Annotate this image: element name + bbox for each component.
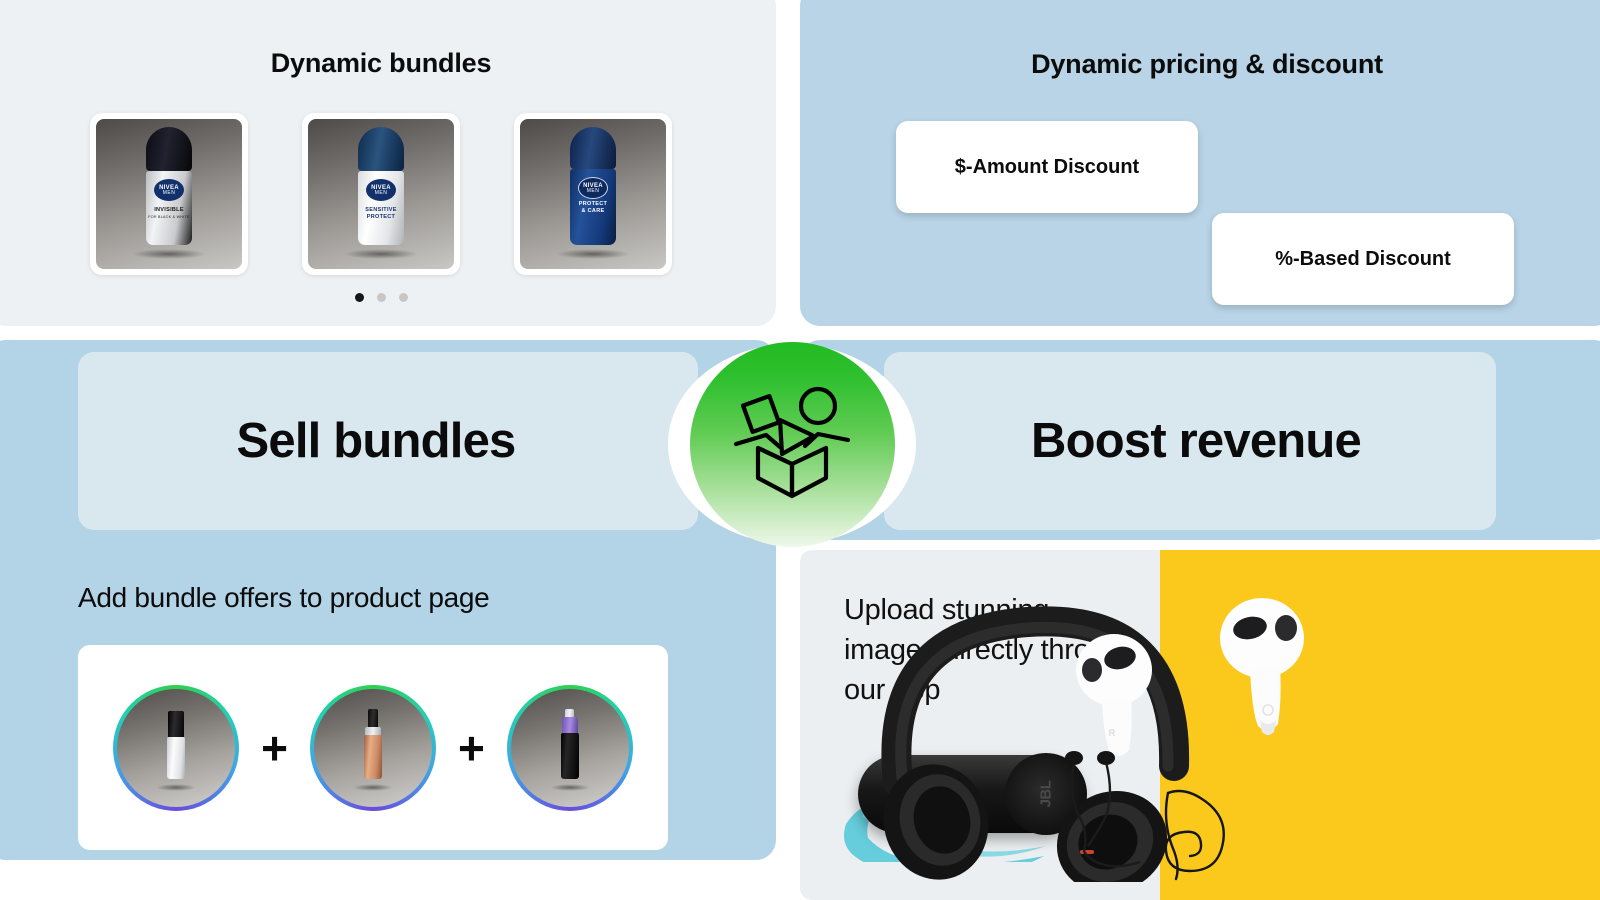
- bundle-product-shadow: [353, 784, 393, 791]
- center-icon-halo: [668, 344, 916, 544]
- airpod-earbud-left-icon: [1212, 592, 1322, 742]
- bundle-product-shadow: [550, 784, 590, 791]
- carousel-dot-1[interactable]: [355, 293, 364, 302]
- product-shadow: [556, 249, 630, 259]
- promo-graphic: Dynamic bundles NIVEAMEN INVISIBLE FOR B…: [0, 0, 1600, 900]
- product-line: MEN: [587, 189, 600, 194]
- open-box-with-shapes-icon: [722, 374, 862, 514]
- plus-separator: +: [458, 725, 485, 771]
- product-carousel[interactable]: NIVEAMEN INVISIBLE FOR BLACK & WHITE: [0, 113, 776, 275]
- product-sub: FOR BLACK & WHITE: [148, 215, 189, 219]
- carousel-dot-3[interactable]: [399, 293, 408, 302]
- add-bundle-offers-title: Add bundle offers to product page: [78, 582, 489, 614]
- product-card[interactable]: NIVEAMEN PROTECT & CARE: [514, 113, 672, 275]
- bundle-product-image: [511, 689, 629, 807]
- product-shadow: [344, 249, 418, 259]
- bundle-offer-preview-card: + +: [78, 645, 668, 850]
- bundle-product-shadow: [156, 784, 196, 791]
- product-card[interactable]: NIVEAMEN INVISIBLE FOR BLACK & WHITE: [90, 113, 248, 275]
- product-variant: PROTECT: [579, 201, 607, 207]
- center-icon-circle: [690, 342, 895, 547]
- bundle-product-ring[interactable]: [113, 685, 239, 811]
- boost-revenue-label: Boost revenue: [884, 413, 1496, 469]
- product-image: NIVEAMEN SENSITIVE PROTECT: [308, 119, 454, 269]
- upload-images-panel: Upload stunning images directly through …: [800, 550, 1600, 900]
- product-line: MEN: [375, 191, 388, 196]
- product-card[interactable]: NIVEAMEN SENSITIVE PROTECT: [302, 113, 460, 275]
- dynamic-pricing-panel: Dynamic pricing & discount $-Amount Disc…: [800, 0, 1600, 326]
- product-image: NIVEAMEN INVISIBLE FOR BLACK & WHITE: [96, 119, 242, 269]
- coiled-cord-icon: [1162, 775, 1312, 895]
- dynamic-bundles-panel: Dynamic bundles NIVEAMEN INVISIBLE FOR B…: [0, 0, 776, 326]
- product-variant: SENSITIVE: [365, 207, 396, 213]
- product-line: MEN: [163, 191, 176, 196]
- wired-earphones-icon: [1048, 746, 1168, 896]
- dynamic-bundles-title: Dynamic bundles: [0, 48, 776, 79]
- product-sub: & CARE: [582, 208, 605, 214]
- plus-separator: +: [261, 725, 288, 771]
- percent-discount-chip[interactable]: %-Based Discount: [1212, 213, 1514, 305]
- product-variant: INVISIBLE: [154, 207, 184, 213]
- product-image: NIVEAMEN PROTECT & CARE: [520, 119, 666, 269]
- amount-discount-chip[interactable]: $-Amount Discount: [896, 121, 1198, 213]
- bundle-product-ring[interactable]: [507, 685, 633, 811]
- svg-text:R: R: [1109, 728, 1116, 738]
- sell-bundles-label: Sell bundles: [78, 413, 698, 469]
- product-shadow: [132, 249, 206, 259]
- bundle-product-image: [117, 689, 235, 807]
- bundle-product-ring[interactable]: [310, 685, 436, 811]
- sell-bundles-banner: Sell bundles: [78, 352, 698, 530]
- boost-revenue-banner: Boost revenue: [884, 352, 1496, 530]
- bundle-product-image: [314, 689, 432, 807]
- carousel-dots[interactable]: [0, 293, 776, 302]
- carousel-dot-2[interactable]: [377, 293, 386, 302]
- product-sub: PROTECT: [367, 214, 395, 220]
- dynamic-pricing-title: Dynamic pricing & discount: [800, 49, 1600, 80]
